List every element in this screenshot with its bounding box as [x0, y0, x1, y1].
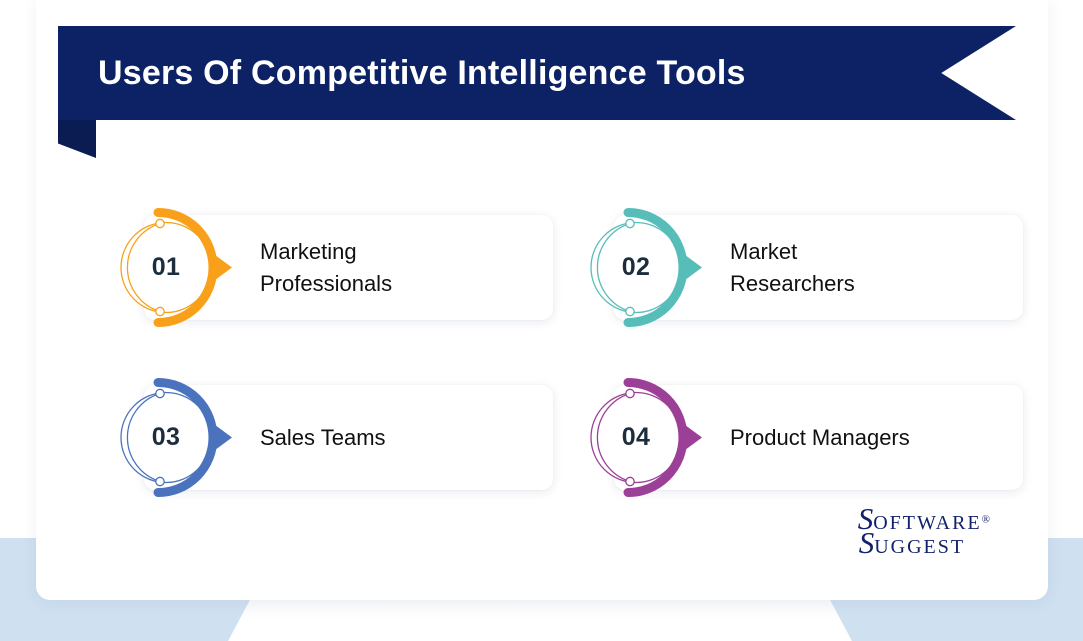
- ribbon-fold-tab: [58, 120, 96, 158]
- item-label-line2: Researchers: [730, 268, 1020, 299]
- registered-trademark-icon: ®: [982, 514, 990, 526]
- item-label-line1: Sales Teams: [260, 422, 550, 453]
- list-item[interactable]: 01 Marketing Professionals: [108, 205, 553, 330]
- badge-number: 04: [578, 375, 694, 500]
- item-label-line1: Market: [730, 236, 1020, 267]
- brand-logo-line2-rest: UGGEST: [874, 536, 965, 558]
- header-ribbon: Users Of Competitive Intelligence Tools: [58, 26, 1016, 134]
- brand-logo: SOFTWARE® SUGGEST: [858, 503, 990, 558]
- badge-number: 03: [108, 375, 224, 500]
- number-badge: 01: [108, 205, 233, 330]
- item-label: Market Researchers: [730, 205, 1020, 330]
- number-badge: 02: [578, 205, 703, 330]
- list-item[interactable]: 02 Market Researchers: [578, 205, 1023, 330]
- content-panel: Users Of Competitive Intelligence Tools …: [36, 0, 1048, 600]
- item-label-line1: Product Managers: [730, 422, 1020, 453]
- brand-logo-line2-cap: S: [859, 525, 875, 560]
- badge-number: 02: [578, 205, 694, 330]
- number-badge: 03: [108, 375, 233, 500]
- list-item[interactable]: 04 Product Managers: [578, 375, 1023, 500]
- page-title: Users Of Competitive Intelligence Tools: [98, 26, 746, 120]
- items-grid: 01 Marketing Professionals: [36, 205, 1048, 525]
- badge-number: 01: [108, 205, 224, 330]
- item-label-line2: Professionals: [260, 268, 550, 299]
- number-badge: 04: [578, 375, 703, 500]
- item-label: Marketing Professionals: [260, 205, 550, 330]
- item-label: Product Managers: [730, 375, 1020, 500]
- list-item[interactable]: 03 Sales Teams: [108, 375, 553, 500]
- infographic-canvas: Users Of Competitive Intelligence Tools …: [0, 0, 1083, 641]
- item-label: Sales Teams: [260, 375, 550, 500]
- item-label-line1: Marketing: [260, 236, 550, 267]
